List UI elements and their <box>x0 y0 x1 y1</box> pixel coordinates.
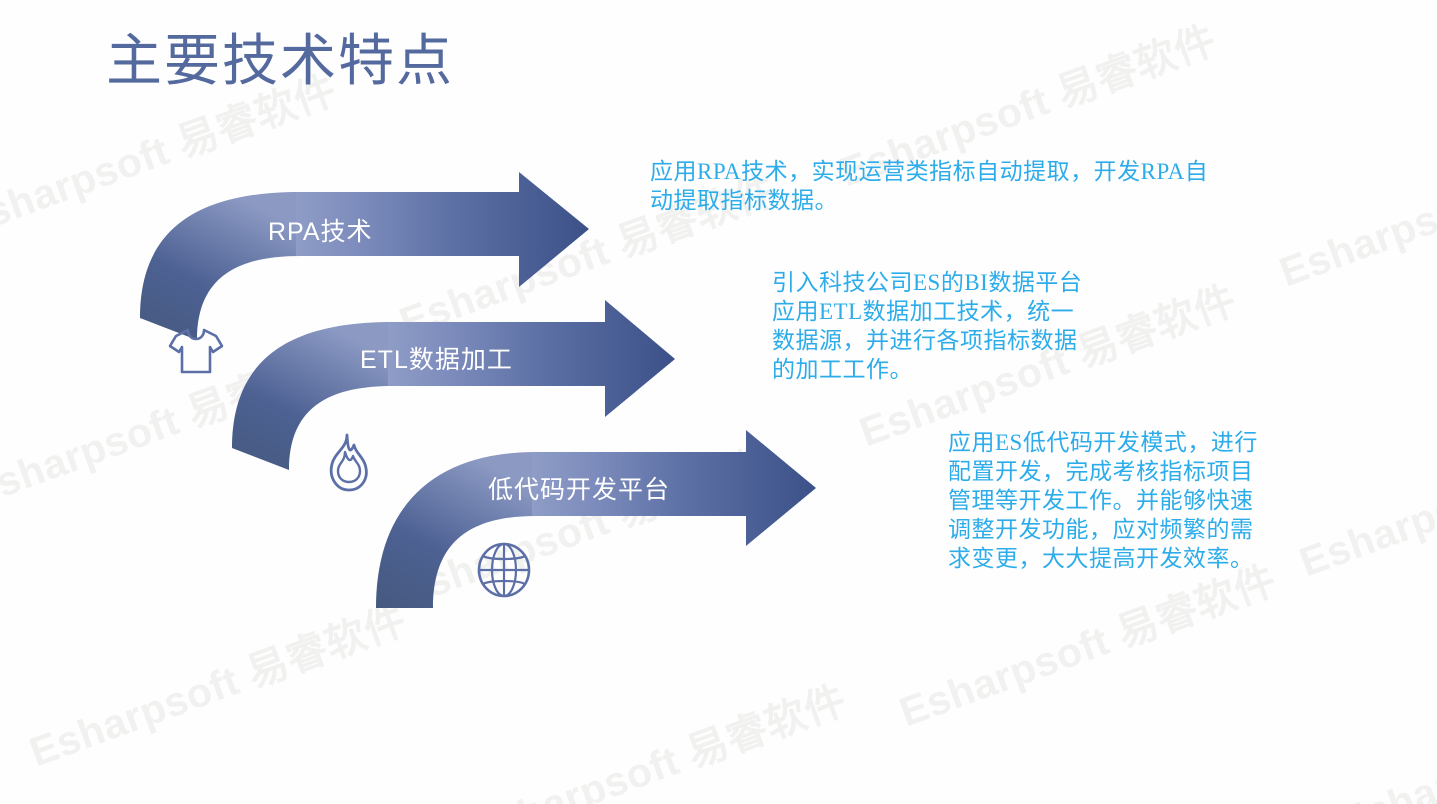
arrow-label-lowcode: 低代码开发平台 <box>488 470 670 506</box>
description-etl: 引入科技公司ES的BI数据平台 应用ETL数据加工技术，统一 数据源，并进行各项… <box>772 268 1192 384</box>
slide-canvas: Esharpsoft 易睿软件 Esharpsoft 易睿软件 Esharpso… <box>0 0 1437 804</box>
arrow-shape-1[interactable] <box>232 300 675 470</box>
arrow-diagram <box>0 0 1437 804</box>
globe-icon <box>476 541 532 604</box>
arrow-label-etl: ETL数据加工 <box>360 340 513 376</box>
arrow-shape-0[interactable] <box>140 172 589 340</box>
arrow-label-rpa: RPA技术 <box>268 212 373 248</box>
flame-icon <box>322 432 376 499</box>
tshirt-icon <box>166 322 226 385</box>
page-title: 主要技术特点 <box>106 16 454 97</box>
description-rpa: 应用RPA技术，实现运营类指标自动提取，开发RPA自动提取指标数据。 <box>650 157 1230 215</box>
arrow-shape-2[interactable] <box>376 430 816 608</box>
description-lowcode: 应用ES低代码开发模式，进行 配置开发，完成考核指标项目 管理等开发工作。并能够… <box>948 428 1328 573</box>
